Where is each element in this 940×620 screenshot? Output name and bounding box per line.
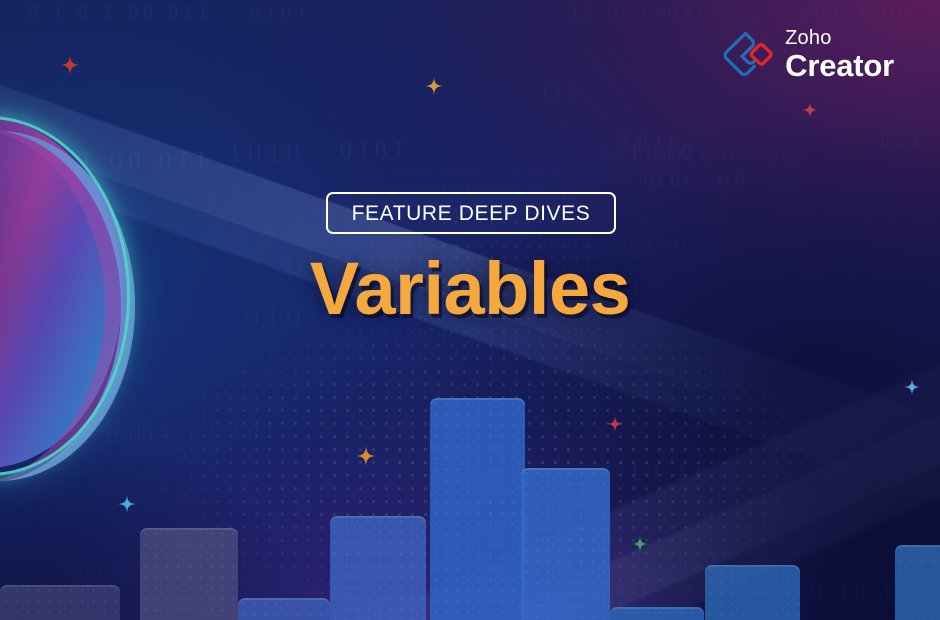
chart-bar bbox=[705, 565, 800, 620]
chart-bar bbox=[430, 398, 525, 620]
page-title: Variables bbox=[0, 252, 940, 326]
chart-bar bbox=[0, 585, 120, 620]
sparkle-red-top-left bbox=[60, 55, 80, 75]
sparkle-blue-left bbox=[118, 495, 136, 513]
zoho-creator-logo[interactable]: Zoho Creator bbox=[720, 28, 894, 81]
sparkle-orange-mid bbox=[356, 446, 376, 466]
sparkle-green-right bbox=[632, 536, 648, 552]
logo-zoho-text: Zoho bbox=[785, 28, 831, 48]
logo-creator-text: Creator bbox=[785, 50, 894, 81]
chart-bar bbox=[330, 516, 426, 620]
chart-bar bbox=[140, 528, 238, 620]
feature-deep-dives-badge: FEATURE DEEP DIVES bbox=[326, 192, 616, 234]
feature-deep-dives-banner: 0 1 0 1 00 011010111 1 01010101 1 000101… bbox=[0, 0, 940, 620]
chart-bar bbox=[610, 607, 704, 620]
chart-bar bbox=[895, 545, 940, 620]
chart-bar bbox=[238, 598, 330, 620]
chart-bar bbox=[521, 468, 610, 620]
sparkle-red-mid-right bbox=[607, 416, 623, 432]
logo-wordmark: Zoho Creator bbox=[785, 28, 894, 81]
sparkle-red-upper-right bbox=[802, 102, 818, 118]
badge-label: FEATURE DEEP DIVES bbox=[352, 203, 591, 224]
sparkle-blue-far-right bbox=[904, 379, 920, 395]
zoho-creator-logo-mark-icon bbox=[720, 30, 774, 80]
sparkle-orange-upper bbox=[425, 77, 443, 95]
